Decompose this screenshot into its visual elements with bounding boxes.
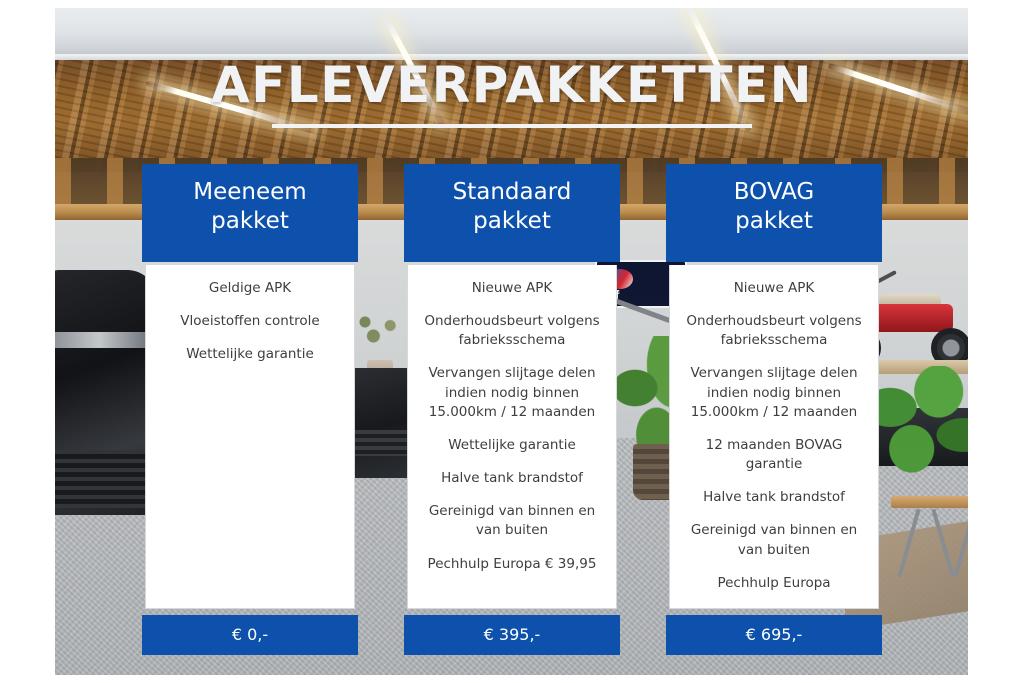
feature-item: Vloeistoffen controle (156, 312, 344, 331)
feature-item: Halve tank brandstof (680, 488, 868, 507)
feature-item: Onderhoudsbeurt volgens fabrieksschema (680, 312, 868, 350)
card-header-meeneem: Meeneem pakket (142, 164, 358, 262)
feature-item: Vervangen slijtage delen indien nodig bi… (680, 364, 868, 421)
card-price-standaard[interactable]: € 395,- (404, 615, 620, 655)
card-title-line1: Standaard (410, 178, 614, 207)
card-title-line2: pakket (672, 207, 876, 236)
card-title-line1: BOVAG (672, 178, 876, 207)
pricing-card-meeneem[interactable]: Meeneem pakket Geldige APK Vloeistoffen … (142, 164, 358, 655)
card-title-line2: pakket (410, 207, 614, 236)
title-divider (272, 124, 752, 128)
card-features-standaard: Nieuwe APK Onderhoudsbeurt volgens fabri… (407, 265, 617, 609)
card-header-bovag: BOVAG pakket (666, 164, 882, 262)
feature-item: Pechhulp Europa (680, 574, 868, 593)
card-header-standaard: Standaard pakket (404, 164, 620, 262)
page-margin-right (968, 0, 1024, 683)
feature-item: Gereinigd van binnen en van buiten (680, 521, 868, 559)
slide-root: elf AFLEVERPAKKETTEN Meeneem (0, 0, 1024, 683)
feature-item: Pechhulp Europa € 39,95 (418, 555, 606, 574)
feature-item: Nieuwe APK (418, 279, 606, 298)
feature-item: Wettelijke garantie (156, 345, 344, 364)
card-features-bovag: Nieuwe APK Onderhoudsbeurt volgens fabri… (669, 265, 879, 609)
feature-item: Gereinigd van binnen en van buiten (418, 502, 606, 540)
page-title: AFLEVERPAKKETTEN (0, 56, 1024, 114)
card-price-meeneem[interactable]: € 0,- (142, 615, 358, 655)
feature-item: Wettelijke garantie (418, 436, 606, 455)
card-price-bovag[interactable]: € 695,- (666, 615, 882, 655)
feature-item: Vervangen slijtage delen indien nodig bi… (418, 364, 606, 421)
feature-item: 12 maanden BOVAG garantie (680, 436, 868, 474)
pricing-card-bovag[interactable]: BOVAG pakket Nieuwe APK Onderhoudsbeurt … (666, 164, 882, 655)
feature-item: Onderhoudsbeurt volgens fabrieksschema (418, 312, 606, 350)
feature-item: Geldige APK (156, 279, 344, 298)
page-title-wrap: AFLEVERPAKKETTEN (0, 56, 1024, 114)
page-margin-bottom (0, 675, 1024, 683)
feature-item: Nieuwe APK (680, 279, 868, 298)
page-margin-left (0, 0, 55, 683)
feature-item: Halve tank brandstof (418, 469, 606, 488)
page-margin-top (0, 0, 1024, 8)
card-title-line2: pakket (148, 207, 352, 236)
pricing-card-standaard[interactable]: Standaard pakket Nieuwe APK Onderhoudsbe… (404, 164, 620, 655)
card-features-meeneem: Geldige APK Vloeistoffen controle Wettel… (145, 265, 355, 609)
card-title-line1: Meeneem (148, 178, 352, 207)
